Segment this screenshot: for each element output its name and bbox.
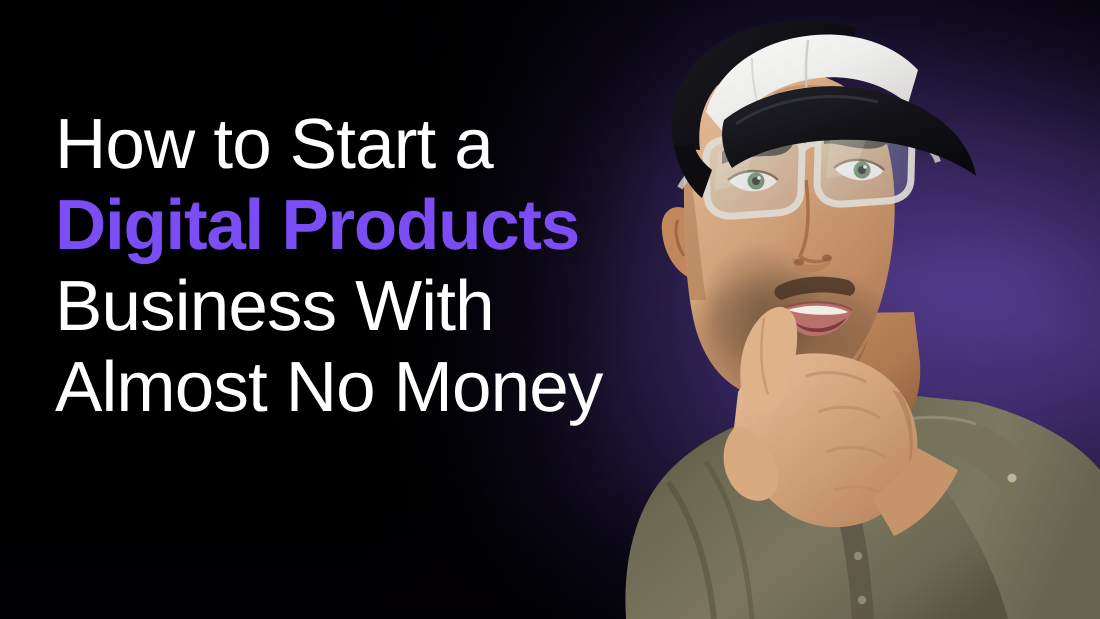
title-line-1: How to Start a (55, 104, 695, 185)
title-line-2-accent: Digital Products (55, 185, 695, 266)
title-line-4: Almost No Money (55, 347, 695, 428)
title-block: How to Start a Digital Products Business… (55, 104, 695, 428)
thumbnail-canvas: How to Start a Digital Products Business… (0, 0, 1100, 619)
title-line-3: Business With (55, 266, 695, 347)
